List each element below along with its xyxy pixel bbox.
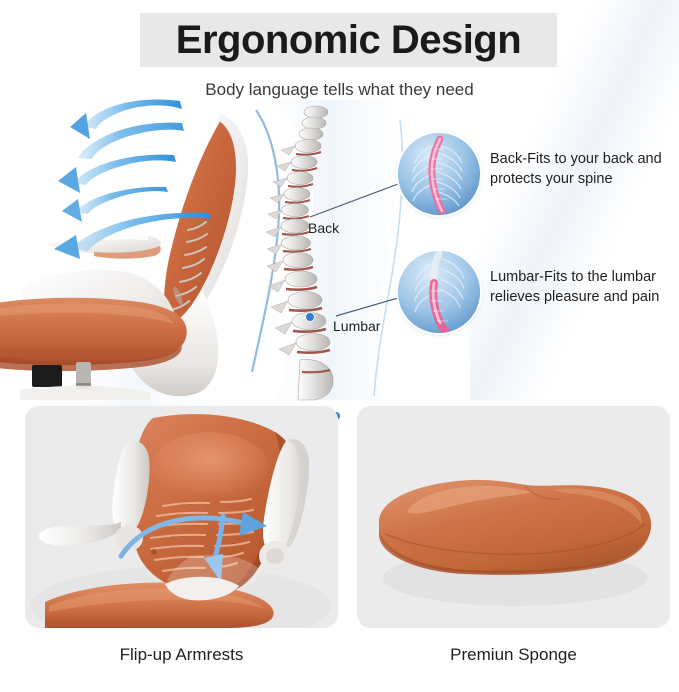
top-illustration-area: [0, 100, 679, 400]
spine-label-back: Back: [308, 220, 339, 236]
seat-cushion-illustration: [357, 406, 670, 628]
caption-premium-sponge: Premiun Sponge: [357, 645, 670, 665]
spine-label-lumbar: Lumbar: [333, 318, 380, 334]
caption-flip-up-armrests: Flip-up Armrests: [25, 645, 338, 665]
spine-closeup-icon-back: [398, 133, 480, 215]
spine-marker-back: [306, 313, 314, 321]
infographic-page: Ergonomic Design Body language tells wha…: [0, 0, 679, 692]
title-banner: Ergonomic Design: [140, 13, 557, 67]
panel-premium-sponge: [357, 406, 670, 628]
chair-back-armrests-illustration: [25, 406, 338, 628]
panel-flip-up-armrests: [25, 406, 338, 628]
spine-closeup-icon-lumbar: [398, 251, 480, 333]
callout-leader-lines: [0, 100, 679, 400]
callout-back: Back-Fits to your back and protects your…: [490, 150, 679, 189]
callout-lumbar: Lumbar-Fits to the lumbar relieves pleas…: [490, 268, 679, 307]
page-title: Ergonomic Design: [176, 20, 521, 60]
